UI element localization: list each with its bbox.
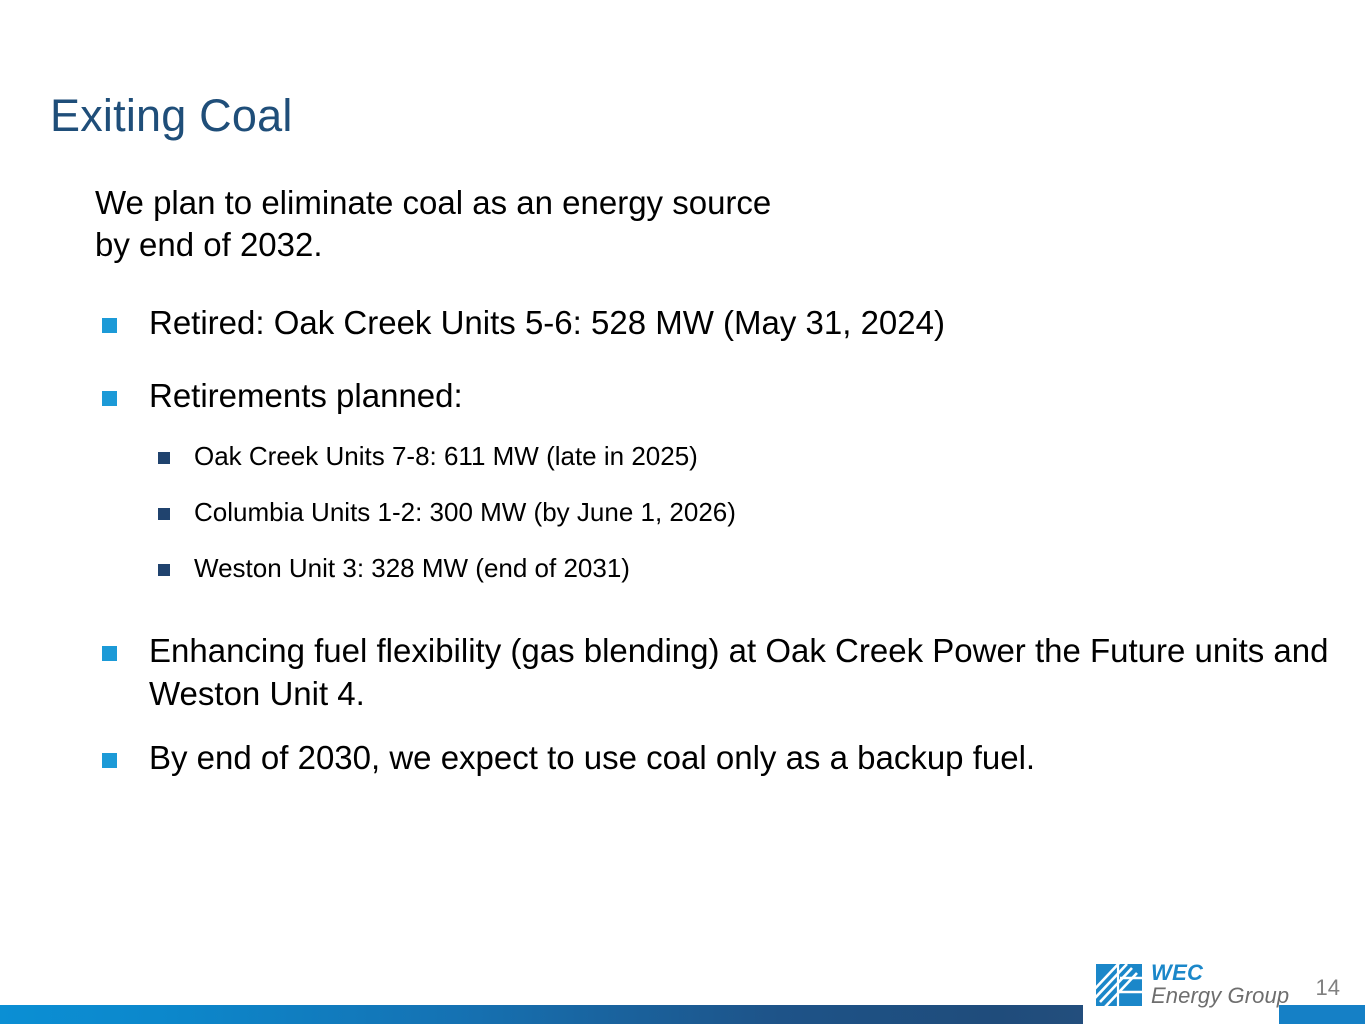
spacer	[0, 715, 1365, 737]
list-item-label: Columbia Units 1-2: 300 MW (by June 1, 2…	[194, 497, 736, 527]
spacer	[0, 266, 1365, 302]
bullet-square-icon	[158, 508, 170, 520]
logo-text-energy-group: Energy Group	[1151, 985, 1289, 1007]
bullet-square-icon	[158, 452, 170, 464]
list-item-weston-3: Weston Unit 3: 328 MW (end of 2031)	[152, 552, 1194, 586]
list-item-label: By end of 2030, we expect to use coal on…	[149, 739, 1035, 776]
bullet-square-icon	[102, 391, 117, 406]
wec-energy-group-logo: WEC Energy Group	[1096, 962, 1289, 1007]
list-item-label: Retirements planned:	[149, 377, 463, 414]
wec-logo-mark-icon	[1096, 964, 1142, 1006]
intro-line-2: by end of 2032.	[95, 224, 1155, 266]
list-item-backup-fuel: By end of 2030, we expect to use coal on…	[95, 737, 1334, 780]
spacer	[0, 586, 1365, 630]
spacer	[0, 418, 1365, 440]
spacer	[0, 345, 1365, 375]
slide-body: We plan to eliminate coal as an energy s…	[0, 182, 1365, 780]
intro-line-1: We plan to eliminate coal as an energy s…	[95, 182, 1155, 224]
bullet-square-icon	[102, 753, 117, 768]
bullet-square-icon	[102, 318, 117, 333]
list-item-label: Oak Creek Units 7-8: 611 MW (late in 202…	[194, 441, 698, 471]
list-item-retired: Retired: Oak Creek Units 5-6: 528 MW (Ma…	[95, 302, 1334, 345]
spacer	[0, 530, 1365, 552]
list-item-label: Weston Unit 3: 328 MW (end of 2031)	[194, 553, 630, 583]
footer-accent-bar-right	[1279, 1005, 1365, 1024]
list-item-retirements-planned: Retirements planned:	[95, 375, 1334, 418]
list-item-label: Enhancing fuel flexibility (gas blending…	[149, 632, 1328, 712]
intro-paragraph: We plan to eliminate coal as an energy s…	[95, 182, 1155, 266]
spacer	[0, 474, 1365, 496]
footer-accent-bar	[0, 1005, 1083, 1024]
bullet-square-icon	[158, 564, 170, 576]
list-item-label: Retired: Oak Creek Units 5-6: 528 MW (Ma…	[149, 304, 945, 341]
wec-logo-wordmark: WEC Energy Group	[1151, 962, 1289, 1007]
logo-text-wec: WEC	[1151, 962, 1289, 984]
bullet-square-icon	[102, 646, 117, 661]
list-item-fuel-flexibility: Enhancing fuel flexibility (gas blending…	[95, 630, 1334, 716]
list-item-oak-creek-7-8: Oak Creek Units 7-8: 611 MW (late in 202…	[152, 440, 1194, 474]
slide: Exiting Coal We plan to eliminate coal a…	[0, 0, 1365, 1024]
page-title: Exiting Coal	[50, 90, 293, 142]
page-number: 14	[1316, 977, 1340, 999]
list-item-columbia-1-2: Columbia Units 1-2: 300 MW (by June 1, 2…	[152, 496, 1194, 530]
bullet-list: Retired: Oak Creek Units 5-6: 528 MW (Ma…	[0, 302, 1365, 780]
